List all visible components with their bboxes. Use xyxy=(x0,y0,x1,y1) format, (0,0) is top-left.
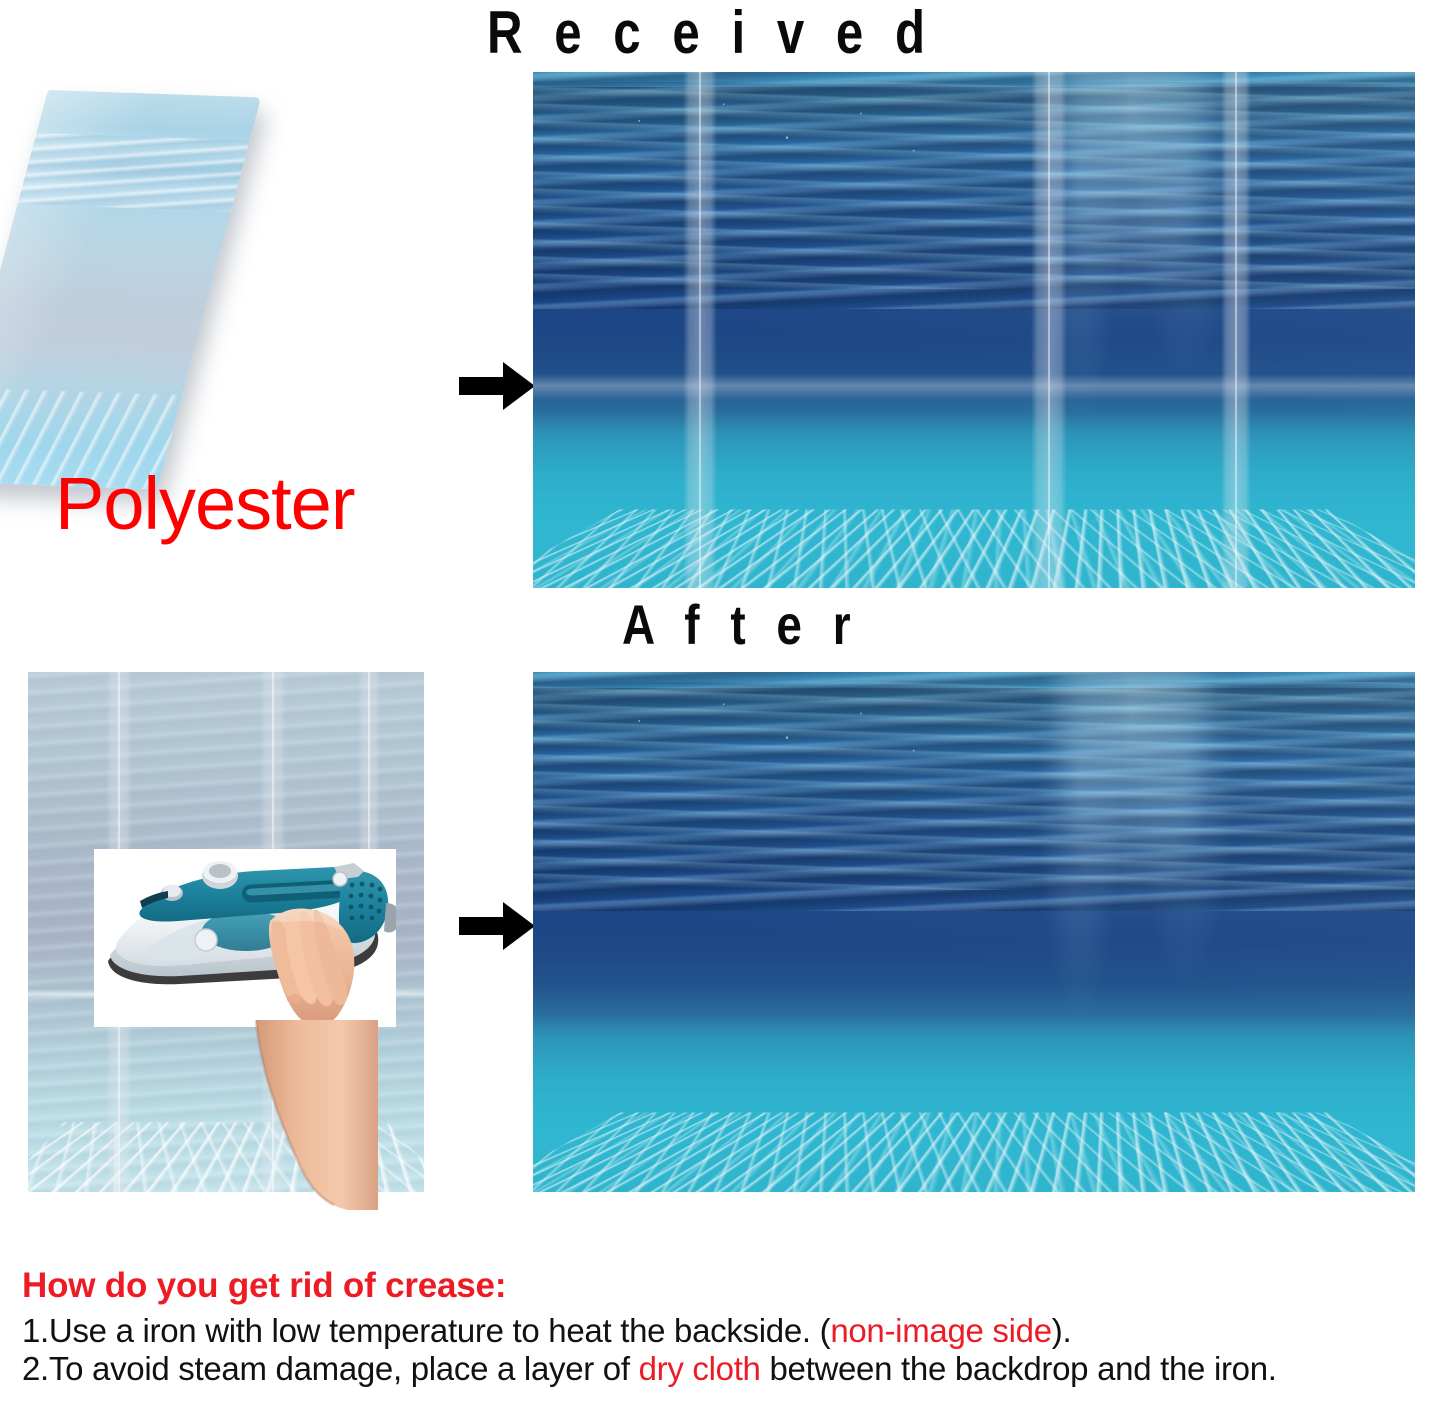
received-heading: R e c e i v e d xyxy=(487,0,934,67)
polyester-label: Polyester xyxy=(55,461,354,546)
after-backdrop-image xyxy=(533,672,1415,1192)
arrow-right-icon xyxy=(459,902,535,950)
instruction-1-prefix: 1.Use a iron with low temperature to hea… xyxy=(22,1312,830,1349)
fabric-cloth-shape xyxy=(0,90,261,489)
bubbles xyxy=(604,93,957,186)
fabric-fold-lines xyxy=(18,133,250,211)
instructions-heading: How do you get rid of crease: xyxy=(22,1266,1422,1306)
bubbles xyxy=(604,693,957,787)
instruction-2-suffix: between the backdrop and the iron. xyxy=(761,1350,1277,1387)
polyester-fabric-sample xyxy=(18,82,418,492)
instruction-1-suffix: ). xyxy=(1052,1312,1072,1349)
instruction-1-highlight: non-image side xyxy=(830,1312,1051,1349)
instruction-2-prefix: 2.To avoid steam damage, place a layer o… xyxy=(22,1350,639,1387)
arrow-right-icon xyxy=(459,362,535,410)
after-heading: A f t e r xyxy=(622,592,860,657)
forearm xyxy=(250,1020,370,1200)
instruction-2-highlight: dry cloth xyxy=(639,1350,761,1387)
instruction-line-2: 2.To avoid steam damage, place a layer o… xyxy=(22,1350,1422,1388)
instruction-line-1: 1.Use a iron with low temperature to hea… xyxy=(22,1312,1422,1350)
product-infographic: R e c e i v e d Polyester xyxy=(0,0,1437,1401)
steam-iron-photo xyxy=(94,849,396,1027)
care-instructions: How do you get rid of crease: 1.Use a ir… xyxy=(22,1266,1422,1389)
received-backdrop-image xyxy=(533,72,1415,588)
